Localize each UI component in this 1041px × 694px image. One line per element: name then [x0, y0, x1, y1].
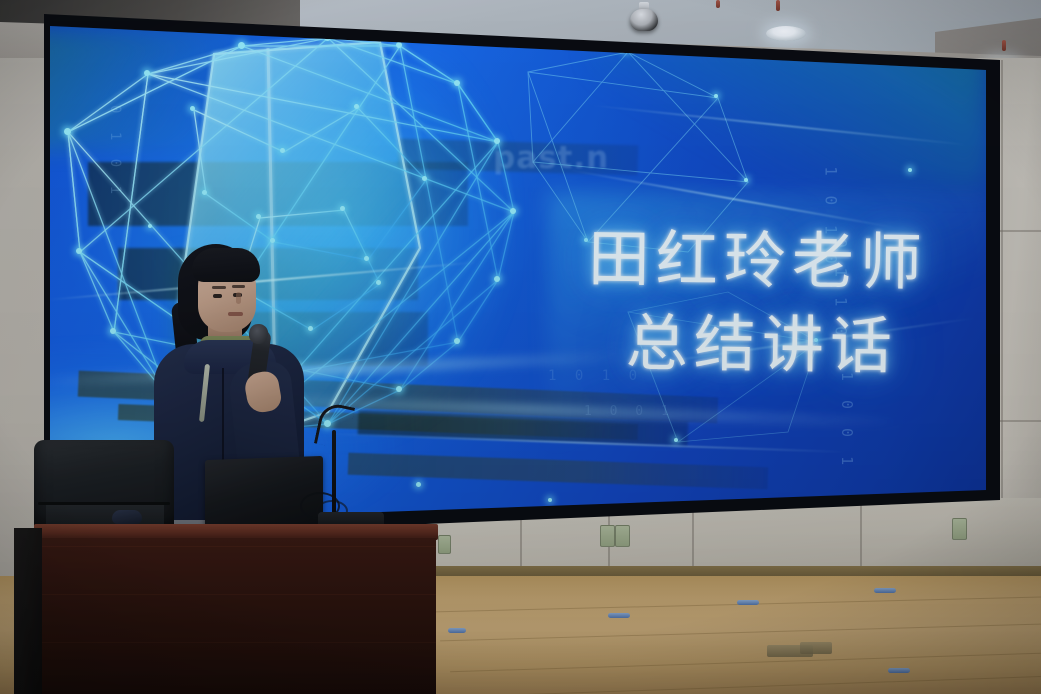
floor-marker: [737, 600, 759, 605]
slide-network-node: [110, 328, 116, 334]
slide-network-node: [454, 338, 460, 344]
presenter-nose: [236, 292, 241, 304]
slide-network-node: [494, 138, 500, 144]
slide-network-node: [396, 42, 402, 48]
slide-network-node: [238, 42, 245, 49]
podium-side-panel: [14, 528, 42, 694]
slide-network-node: [744, 178, 748, 182]
slide-network-node: [714, 94, 718, 98]
computer-mouse-icon[interactable]: [112, 510, 142, 524]
presenter-fringe: [192, 248, 260, 282]
slide-network-node: [494, 276, 500, 282]
slide-title-line-2: 总结讲话: [625, 292, 898, 385]
slide-network-node: [76, 248, 82, 254]
slide-network-node: [256, 214, 261, 219]
presenter-eye: [213, 294, 222, 298]
slide-network-node: [64, 128, 71, 135]
slide-network-node: [340, 206, 345, 211]
podium-grain: [40, 642, 436, 643]
floor-marker: [888, 668, 910, 673]
wall-outlet-icon[interactable]: [438, 535, 451, 554]
wall-outlet-icon[interactable]: [615, 525, 630, 547]
slide-network-node: [416, 482, 421, 487]
presenter-brow: [232, 285, 245, 288]
sprinkler-icon: [1002, 40, 1006, 51]
slide-network-node: [280, 148, 285, 153]
wall-outlet-icon[interactable]: [952, 518, 967, 540]
slide-title-line-1: 田红玲老师: [587, 208, 928, 302]
floor-marker: [874, 588, 896, 593]
wall-panel-seam: [860, 500, 862, 566]
office-chair-seam: [38, 502, 170, 505]
slide-network-node: [396, 386, 402, 392]
conference-hall-photo: past.n 1 0 1 0 0 1 1 0 1 0 0 1 0 1 0 1 1…: [0, 0, 1041, 694]
podium: [40, 538, 436, 694]
slide-network-node: [674, 438, 678, 442]
slide-network-node: [190, 106, 195, 111]
downlight-icon: [766, 26, 806, 41]
slide-network-node: [148, 224, 152, 228]
slide-network-node: [364, 256, 369, 261]
wall-panel-seam: [692, 506, 694, 568]
slide-network-node: [144, 70, 150, 76]
podium-grain: [40, 594, 436, 595]
sprinkler-icon: [716, 0, 720, 8]
slide-network-node: [548, 498, 552, 502]
slide-network-node: [908, 168, 912, 172]
sprinkler-icon: [776, 0, 780, 11]
floor-socket-plate: [800, 642, 832, 654]
podium-grain: [40, 546, 436, 547]
floor-marker: [608, 613, 630, 618]
slide-network-node: [376, 280, 381, 285]
floor-marker: [448, 628, 466, 633]
wall-outlet-icon[interactable]: [600, 525, 615, 547]
slide-network-node: [354, 104, 359, 109]
dome-camera-icon: [630, 9, 658, 31]
slide-network-node: [454, 80, 460, 86]
presenter-brow: [212, 286, 226, 289]
slide-network-node: [422, 176, 427, 181]
slide-network-node: [202, 190, 207, 195]
slide-network-node: [510, 208, 516, 214]
laptop-icon[interactable]: [205, 456, 323, 532]
presenter-mouth: [228, 312, 243, 316]
